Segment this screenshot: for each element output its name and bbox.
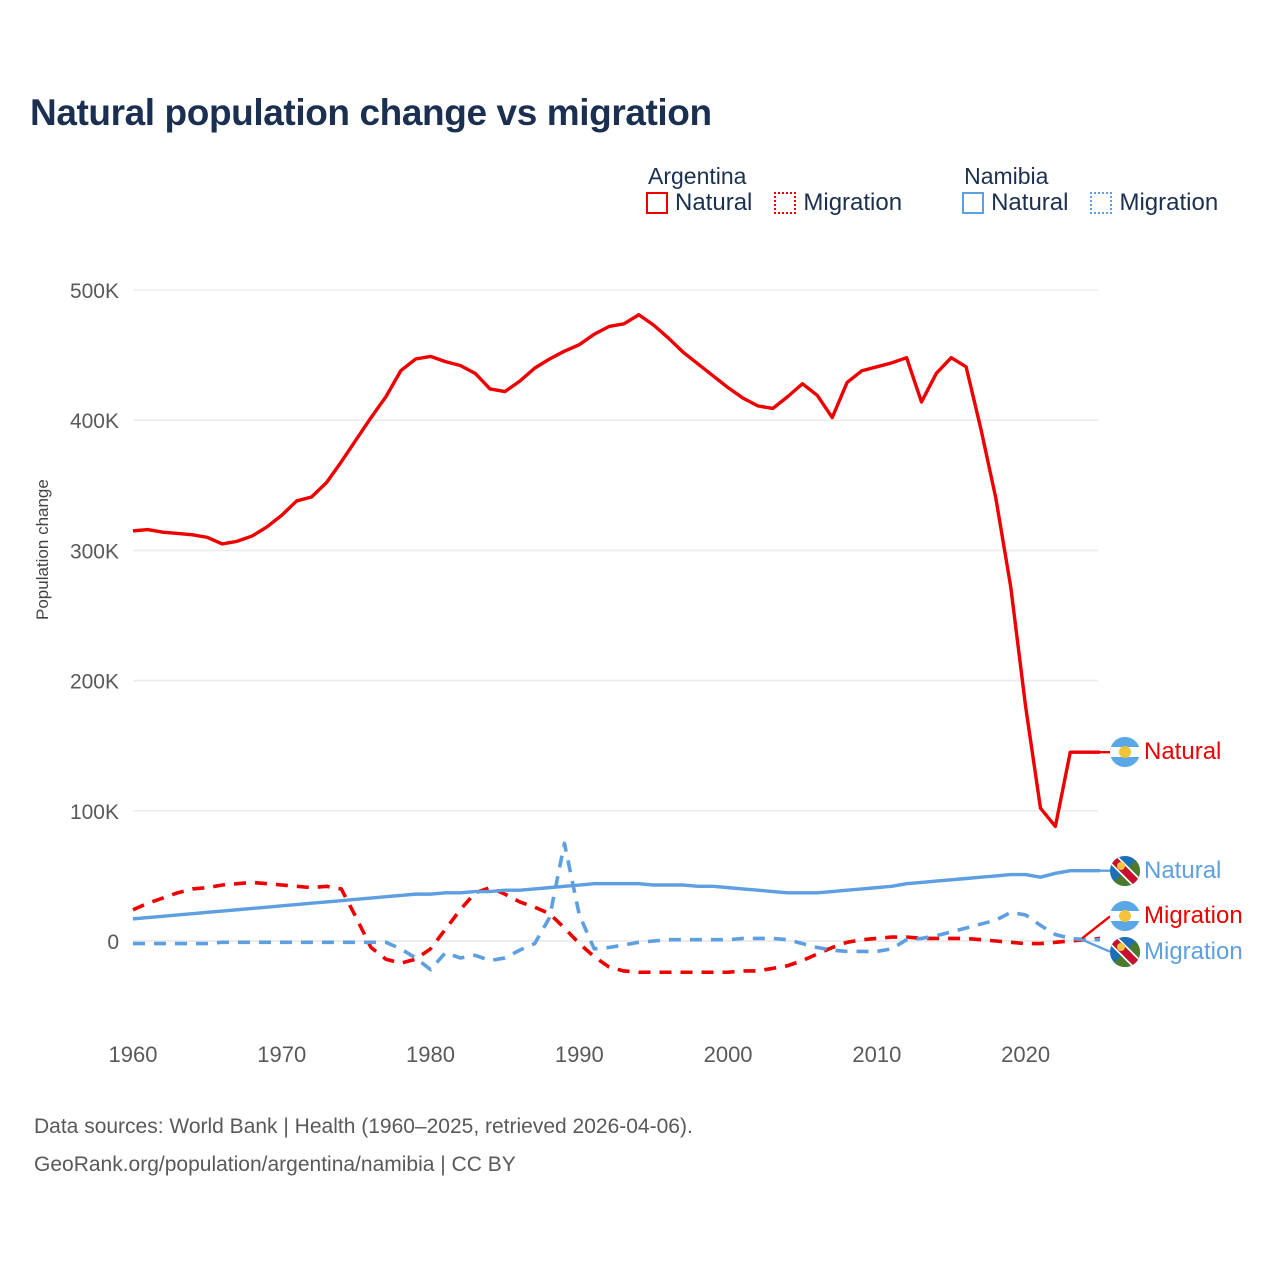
argentina-flag-icon [1110, 901, 1140, 931]
end-label-text: Natural [1144, 859, 1221, 883]
svg-text:1960: 1960 [109, 1042, 158, 1067]
end-label-text: Migration [1144, 940, 1243, 964]
svg-text:1990: 1990 [555, 1042, 604, 1067]
end-label-text: Natural [1144, 740, 1221, 764]
footer-sources: Data sources: World Bank | Health (1960–… [34, 1108, 693, 1184]
plot-svg: 0100K200K300K400K500K 196019701980199020… [0, 0, 1280, 1280]
footer-line-2: GeoRank.org/population/argentina/namibia… [34, 1146, 693, 1184]
plot-area: 0100K200K300K400K500K 196019701980199020… [0, 0, 1280, 1280]
end-label-text: Migration [1144, 904, 1243, 928]
svg-text:100K: 100K [70, 801, 119, 824]
end-label-argentina-migration[interactable]: Migration [1110, 901, 1243, 931]
svg-text:500K: 500K [70, 280, 119, 303]
label-connectors [1082, 752, 1110, 951]
series-line-argentina-migration [133, 882, 1100, 972]
end-label-argentina-natural[interactable]: Natural [1110, 737, 1221, 767]
namibia-flag-icon [1110, 856, 1140, 886]
svg-text:1980: 1980 [406, 1042, 455, 1067]
end-label-namibia-natural[interactable]: Natural [1110, 856, 1221, 886]
series-line-namibia-natural [133, 871, 1100, 919]
gridlines [133, 290, 1098, 941]
svg-text:2010: 2010 [852, 1042, 901, 1067]
svg-text:0: 0 [107, 931, 119, 954]
series-line-argentina-natural [133, 315, 1100, 827]
y-axis-ticks: 0100K200K300K400K500K [70, 280, 119, 954]
svg-text:400K: 400K [70, 410, 119, 433]
argentina-flag-icon [1110, 737, 1140, 767]
svg-text:200K: 200K [70, 671, 119, 694]
x-axis-ticks: 1960197019801990200020102020 [109, 1042, 1051, 1067]
chart-root: Natural population change vs migration A… [0, 0, 1280, 1280]
data-series [133, 315, 1100, 973]
namibia-flag-icon [1110, 937, 1140, 967]
footer-line-1: Data sources: World Bank | Health (1960–… [34, 1108, 693, 1146]
svg-text:2000: 2000 [704, 1042, 753, 1067]
svg-text:300K: 300K [70, 540, 119, 563]
end-label-namibia-migration[interactable]: Migration [1110, 937, 1243, 967]
svg-text:1970: 1970 [257, 1042, 306, 1067]
y-axis-title: Population change [33, 479, 52, 620]
svg-text:2020: 2020 [1001, 1042, 1050, 1067]
